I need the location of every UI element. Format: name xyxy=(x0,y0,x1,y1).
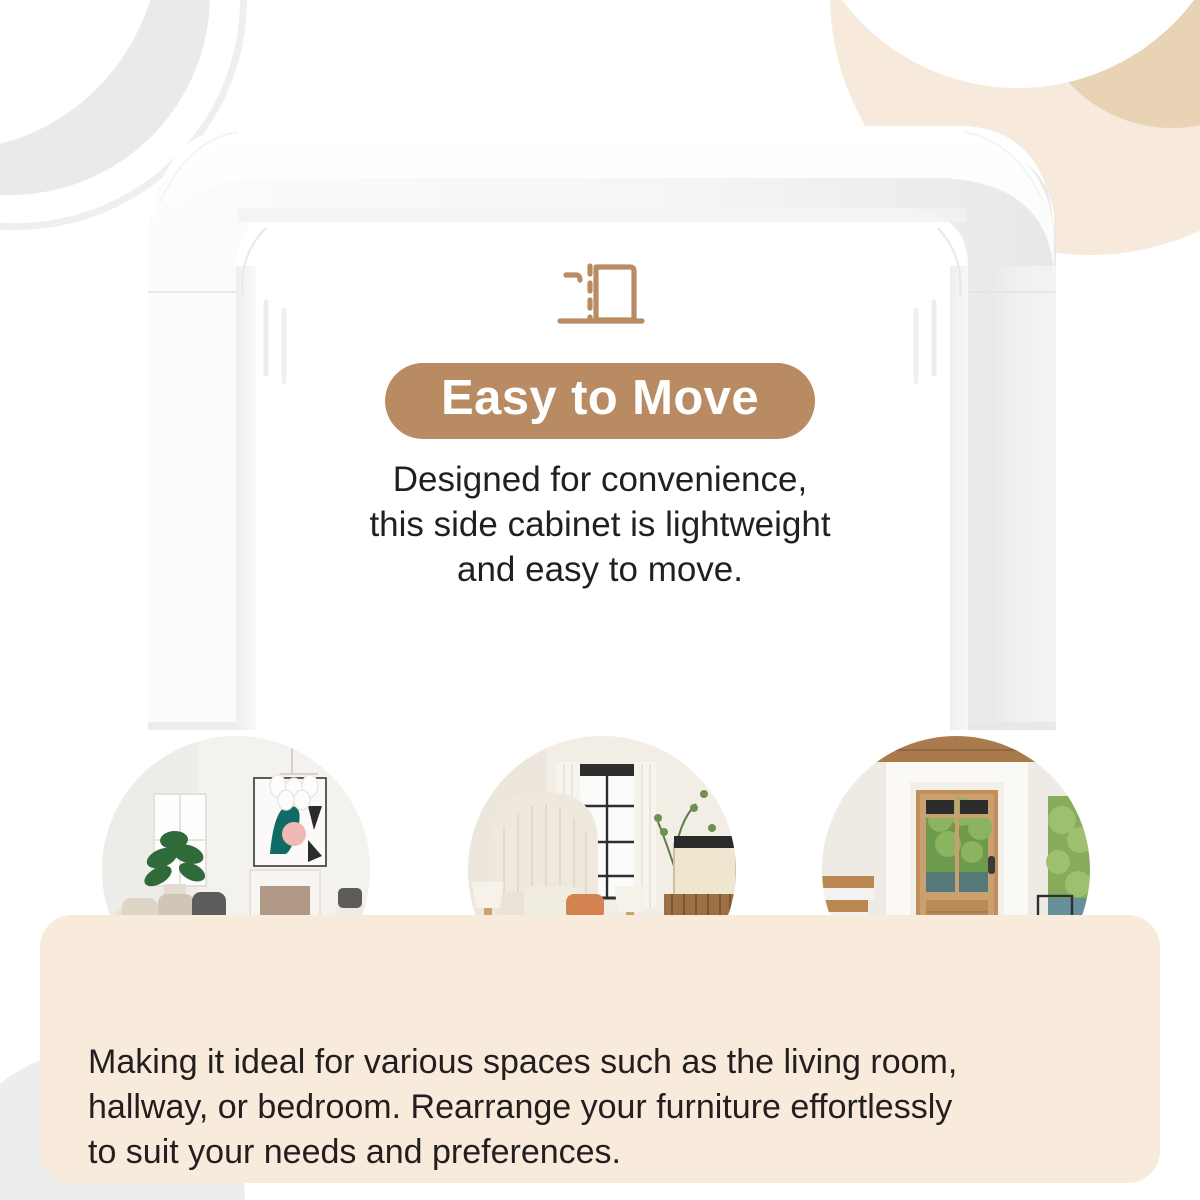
product-feature-page: Easy to Move Designed for convenience, t… xyxy=(0,0,1200,1200)
caption-line-2: hallway, or bedroom. Rearrange your furn… xyxy=(88,1085,1118,1130)
corner-decoration-top-right-white-mask xyxy=(798,0,1200,88)
feature-badge: Easy to Move xyxy=(385,363,815,439)
caption-line-1: Making it ideal for various spaces such … xyxy=(88,1040,1118,1085)
feature-icon-container xyxy=(0,258,1200,335)
feature-subtitle-line-3: and easy to move. xyxy=(0,548,1200,593)
caption-line-3: to suit your needs and preferences. xyxy=(88,1130,1118,1175)
cabinet-move-icon xyxy=(552,258,648,335)
feature-subtitle: Designed for convenience, this side cabi… xyxy=(0,458,1200,592)
feature-subtitle-line-1: Designed for convenience, xyxy=(0,458,1200,503)
caption-text: Making it ideal for various spaces such … xyxy=(88,1040,1118,1176)
feature-subtitle-line-2: this side cabinet is lightweight xyxy=(0,503,1200,548)
